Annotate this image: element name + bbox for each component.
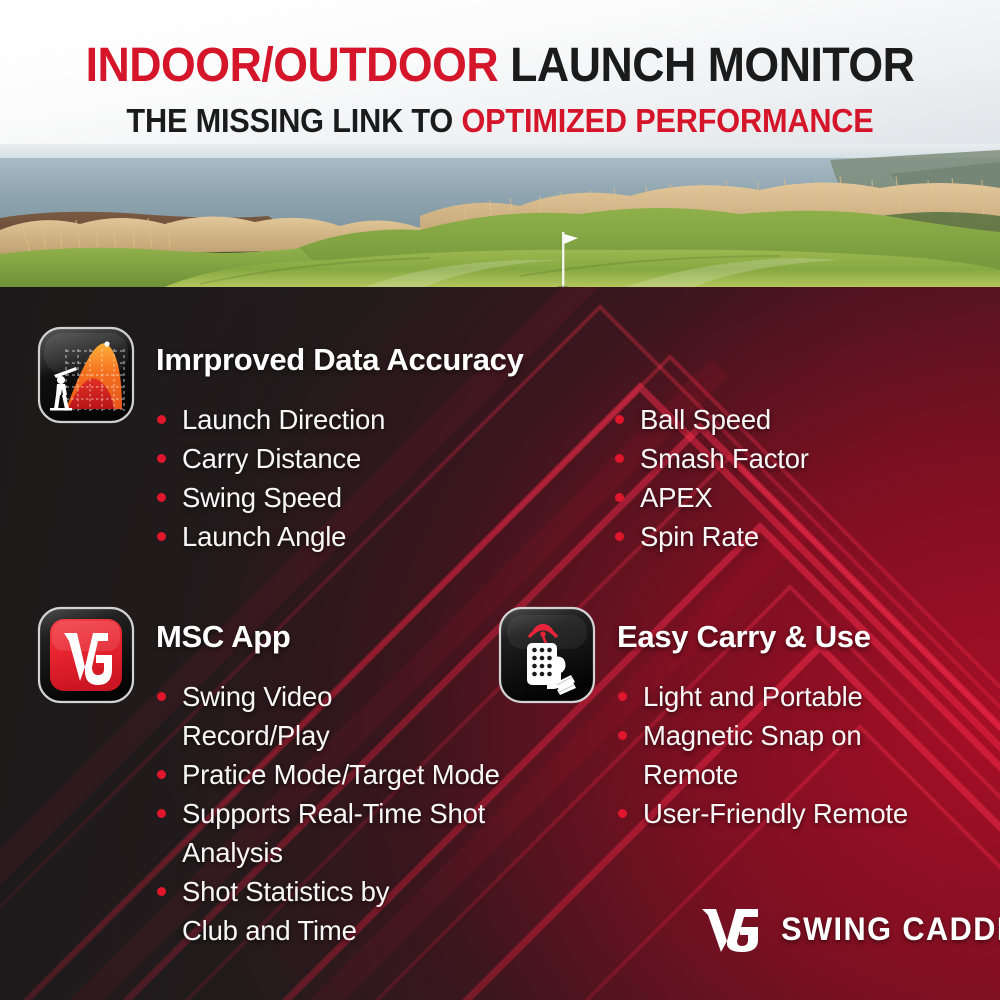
list-item: Magnetic Snap on Remote: [617, 716, 987, 794]
bullet-dot-icon: [618, 692, 627, 701]
bullet-list-msc-app: Swing Video Record/Play Pratice Mode/Tar…: [156, 677, 586, 950]
bullet-dot-icon: [157, 809, 166, 818]
list-item: Smash Factor: [614, 439, 944, 478]
launch-monitor-chart-icon: [36, 325, 136, 425]
headline-primary-dark: LAUNCH MONITOR: [510, 39, 914, 92]
bullet-dot-icon: [157, 415, 166, 424]
swing-caddie-vc-monogram-icon: [700, 905, 762, 953]
feature-title-improved-data-accuracy: Imrproved Data Accuracy: [156, 342, 524, 378]
features-panel: Imrproved Data Accuracy Launch Direction…: [0, 287, 1000, 1000]
swing-caddie-logo: SWING CADDIE: [700, 905, 1000, 953]
list-item: Pratice Mode/Target Mode: [156, 755, 586, 794]
headline-secondary-dark: THE MISSING LINK TO: [126, 102, 453, 139]
poster-root: INDOOR/OUTDOOR LAUNCH MONITOR THE MISSIN…: [0, 0, 1000, 1000]
headline-secondary: THE MISSING LINK TO OPTIMIZED PERFORMANC…: [35, 104, 965, 137]
bullet-dot-icon: [157, 692, 166, 701]
bullet-dot-icon: [615, 493, 624, 502]
bullet-dot-icon: [615, 532, 624, 541]
list-item: Spin Rate: [614, 517, 944, 556]
hero-golf-course-photo: [0, 144, 1000, 289]
list-item: User-Friendly Remote: [617, 794, 987, 833]
bullet-dot-icon: [618, 809, 627, 818]
list-item: Supports Real-Time Shot Analysis: [156, 794, 586, 872]
bullet-dot-icon: [157, 493, 166, 502]
feature-title-easy-carry-and-use: Easy Carry & Use: [617, 619, 871, 655]
list-item: Light and Portable: [617, 677, 987, 716]
bullet-dot-icon: [618, 731, 627, 740]
bullet-dot-icon: [157, 454, 166, 463]
list-item: Shot Statistics by Club and Time: [156, 872, 586, 950]
bullet-list-easy-carry: Light and Portable Magnetic Snap on Remo…: [617, 677, 987, 833]
headline-primary: INDOOR/OUTDOOR LAUNCH MONITOR: [35, 42, 965, 90]
bullet-dot-icon: [157, 532, 166, 541]
bullet-dot-icon: [157, 770, 166, 779]
swing-caddie-wordmark: SWING CADDIE: [781, 911, 1000, 948]
list-item: Carry Distance: [156, 439, 486, 478]
header-banner: INDOOR/OUTDOOR LAUNCH MONITOR THE MISSIN…: [0, 0, 1000, 150]
voice-caddie-app-icon: [36, 605, 136, 705]
bullet-list-data-accuracy-right: Ball Speed Smash Factor APEX Spin Rate: [614, 400, 944, 556]
remote-control-hand-icon: [497, 605, 597, 705]
list-item: Launch Direction: [156, 400, 486, 439]
list-item: Ball Speed: [614, 400, 944, 439]
list-item: Launch Angle: [156, 517, 486, 556]
headline-secondary-red: OPTIMIZED PERFORMANCE: [461, 102, 873, 139]
bullet-dot-icon: [615, 454, 624, 463]
list-item: APEX: [614, 478, 944, 517]
bullet-dot-icon: [615, 415, 624, 424]
headline-primary-red: INDOOR/OUTDOOR: [86, 39, 499, 92]
feature-title-msc-app: MSC App: [156, 619, 291, 655]
bullet-dot-icon: [157, 887, 166, 896]
bullet-list-data-accuracy-left: Launch Direction Carry Distance Swing Sp…: [156, 400, 486, 556]
list-item: Swing Speed: [156, 478, 486, 517]
